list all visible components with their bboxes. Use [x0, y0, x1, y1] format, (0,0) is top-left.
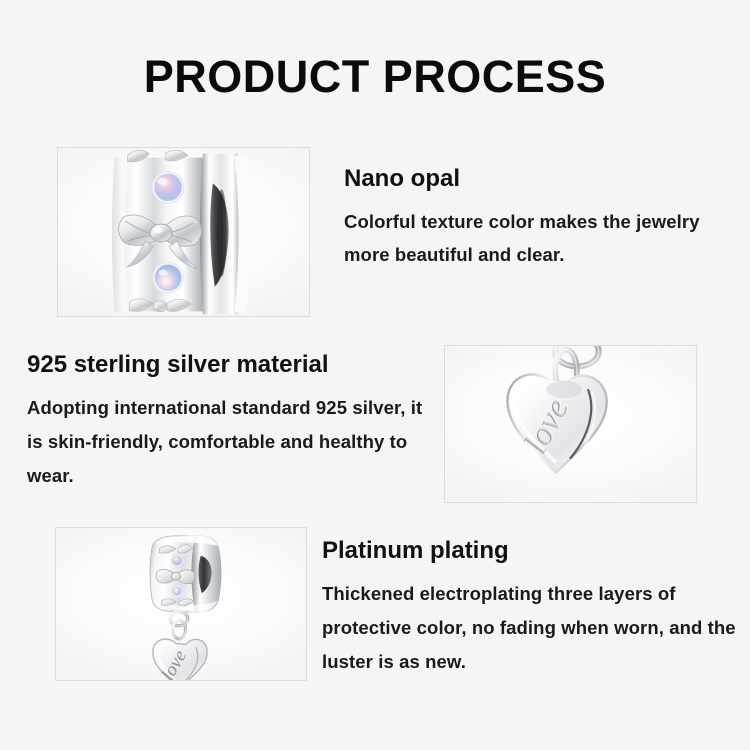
feature-text-sterling-silver: 925 sterling silver material Adopting in… — [27, 350, 437, 493]
bow-bead-macro-illustration — [58, 148, 309, 316]
feature-heading-nano-opal: Nano opal — [344, 164, 734, 194]
product-image-sterling-silver: love love — [444, 345, 697, 503]
feature-heading-platinum-plating: Platinum plating — [322, 536, 742, 566]
feature-body-sterling-silver: Adopting international standard 925 silv… — [27, 391, 437, 493]
feature-body-nano-opal: Colorful texture color makes the jewelry… — [344, 205, 734, 271]
product-image-nano-opal — [57, 147, 310, 317]
feature-body-platinum-plating: Thickened electroplating three layers of… — [322, 577, 742, 679]
feature-heading-sterling-silver: 925 sterling silver material — [27, 350, 437, 380]
product-image-platinum-plating: love — [55, 527, 307, 681]
feature-text-platinum-plating: Platinum plating Thickened electroplatin… — [322, 536, 742, 679]
product-process-page: PRODUCT PROCESS — [0, 0, 750, 750]
page-title: PRODUCT PROCESS — [0, 50, 750, 104]
love-heart-pendant-illustration: love love — [445, 346, 696, 502]
full-charm-illustration: love — [56, 528, 306, 680]
feature-text-nano-opal: Nano opal Colorful texture color makes t… — [344, 164, 734, 271]
